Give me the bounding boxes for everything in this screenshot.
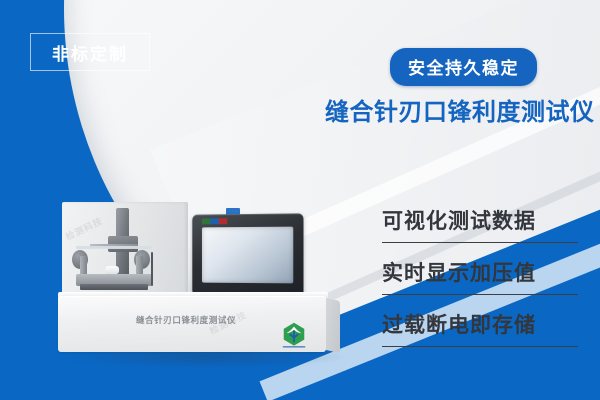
feature-item-label: 可视化测试数据: [382, 205, 578, 235]
feature-item: 实时显示加压值: [382, 257, 578, 295]
hmi-brand-strip-icon: [202, 218, 227, 224]
fixture-glass-bar: [76, 246, 152, 249]
custom-order-badge: 非标定制: [30, 33, 150, 71]
page-title: 缝合针刃口锋利度测试仪: [325, 92, 593, 127]
tagline-pill-label: 安全持久稳定: [408, 59, 519, 78]
fixture-sample-puck: [105, 266, 119, 274]
feature-item-label: 过载断电即存储: [382, 309, 578, 339]
feature-list: 可视化测试数据 实时显示加压值 过载断电即存储: [382, 205, 578, 361]
tagline-pill: 安全持久稳定: [390, 48, 537, 86]
feature-item: 可视化测试数据: [382, 205, 578, 243]
hmi-display[interactable]: [202, 227, 293, 284]
fixture-cable: [151, 252, 153, 286]
hmi-touchscreen[interactable]: [192, 213, 303, 296]
device-base-side: [326, 298, 340, 353]
promo-banner: 非标定制 安全持久稳定 缝合针刃口锋利度测试仪 可视化测试数据 实时显示加压值 …: [0, 0, 600, 400]
feature-item-label: 实时显示加压值: [382, 257, 578, 287]
device-front-label: 缝合针刃口锋利度测试仪: [58, 314, 314, 326]
manufacturer-logo: [280, 320, 308, 348]
custom-order-badge-label: 非标定制: [52, 40, 128, 65]
product-photo: 缝合针刃口锋利度测试仪 检测科技 检测科技: [58, 196, 348, 368]
feature-item: 过载断电即存储: [382, 309, 578, 347]
fixture-stage-base: [80, 284, 148, 290]
